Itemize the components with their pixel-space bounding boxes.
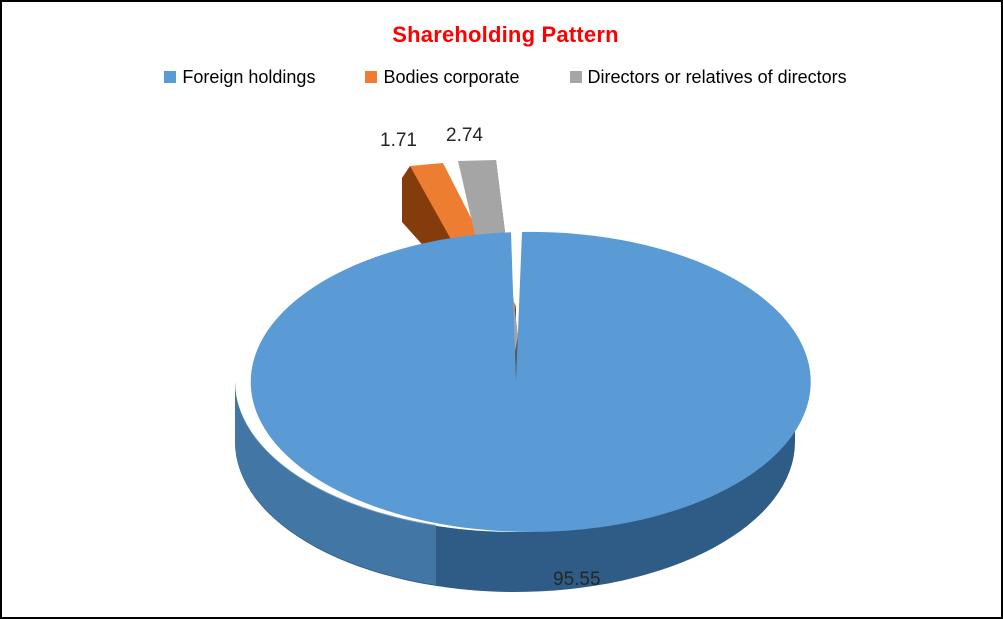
data-label-bodies-corporate: 1.71 (380, 130, 417, 152)
chart-container: Shareholding Pattern Foreign holdings Bo… (0, 0, 1003, 619)
pie-chart: 1.71 2.74 95.55 (6, 6, 1003, 619)
pie-slice-top-foreign-holdings[interactable] (251, 232, 811, 532)
data-label-foreign-holdings: 95.55 (553, 569, 601, 591)
chart-plot-area: Shareholding Pattern Foreign holdings Bo… (2, 2, 1001, 617)
pie-chart-svg (6, 6, 1003, 619)
data-label-directors: 2.74 (446, 125, 483, 147)
